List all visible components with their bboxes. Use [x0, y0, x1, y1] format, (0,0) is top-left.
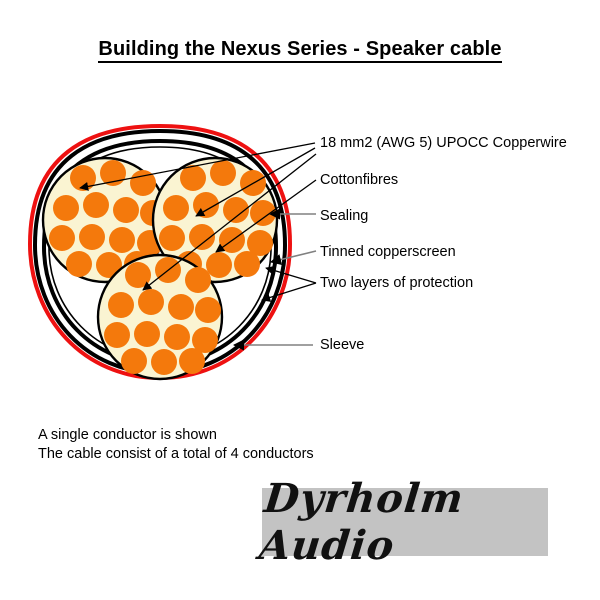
- brand-logo-box: Dyrholm Audio: [262, 488, 548, 556]
- caption-line-2: The cable consist of a total of 4 conduc…: [38, 445, 314, 464]
- label-sealing: Sealing: [320, 209, 368, 224]
- label-copperwire: 18 mm2 (AWG 5) UPOCC Copperwire: [320, 136, 567, 151]
- label-tinned-copperscreen: Tinned copperscreen: [320, 245, 456, 260]
- caption-line-1: A single conductor is shown: [38, 426, 314, 445]
- label-cottonfibres: Cottonfibres: [320, 173, 398, 188]
- caption-block: A single conductor is shown The cable co…: [38, 426, 314, 464]
- label-two-layers-protection: Two layers of protection: [320, 276, 473, 291]
- brand-logo-text: Dyrholm Audio: [258, 488, 551, 556]
- conductor-bundle-bottom: [98, 255, 222, 379]
- label-sleeve: Sleeve: [320, 338, 364, 353]
- diagram-page: Building the Nexus Series - Speaker cabl…: [0, 0, 600, 600]
